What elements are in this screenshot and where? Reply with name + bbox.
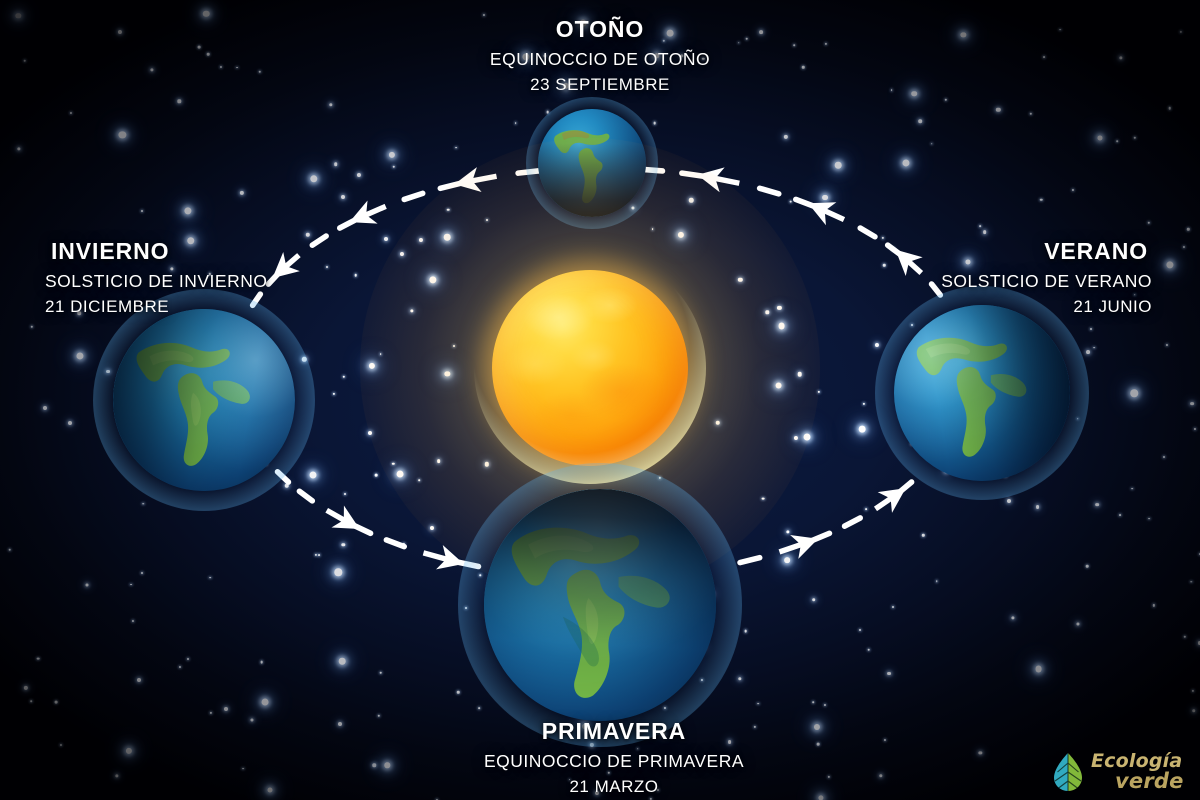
orbit-dash xyxy=(312,236,326,245)
orbit-arrow xyxy=(779,543,806,552)
infographic-canvas: OTOÑO EQUINOCCIO DE OTOÑO 23 SEPTIEMBRE … xyxy=(0,0,1200,800)
logo-line-1: Ecología xyxy=(1091,753,1184,770)
orbit-arrow xyxy=(905,258,921,273)
orbit-dash xyxy=(740,558,760,563)
earth-summer-globe xyxy=(894,305,1070,481)
label-autumn: OTOÑO EQUINOCCIO DE OTOÑO 23 SEPTIEMBRE xyxy=(490,14,710,97)
orbit-dash xyxy=(900,482,912,492)
orbit-dash xyxy=(354,526,370,534)
label-winter-event: SOLSTICIO DE INVIERNO xyxy=(45,270,267,293)
logo-wordmark: Ecología verde xyxy=(1091,753,1184,791)
sun-rim-glow xyxy=(474,252,706,484)
orbit-dash xyxy=(299,491,312,501)
label-winter-season: INVIERNO xyxy=(51,236,267,266)
label-autumn-season: OTOÑO xyxy=(490,14,710,44)
earth-winter-terminator xyxy=(113,309,295,491)
leaf-droplet-icon xyxy=(1052,752,1084,792)
orbit-dash xyxy=(845,518,861,526)
orbit-dash xyxy=(888,245,901,255)
label-spring: PRIMAVERA EQUINOCCIO DE PRIMAVERA 21 MAR… xyxy=(484,716,744,799)
earth-winter xyxy=(113,309,295,491)
orbit-dash xyxy=(404,193,423,199)
label-spring-event: EQUINOCCIO DE PRIMAVERA xyxy=(484,750,744,773)
label-summer: VERANO SOLSTICIO DE VERANO 21 JUNIO xyxy=(941,236,1152,319)
orbit-dash xyxy=(860,228,875,237)
orbit-arrow xyxy=(820,209,844,220)
ecologia-verde-logo[interactable]: Ecología verde xyxy=(1052,752,1184,792)
orbit-arrow xyxy=(423,553,451,561)
orbit-dash xyxy=(268,273,278,284)
orbit-arrow xyxy=(327,510,349,522)
label-summer-event: SOLSTICIO DE VERANO xyxy=(941,270,1152,293)
label-spring-season: PRIMAVERA xyxy=(484,716,744,746)
earth-summer xyxy=(894,305,1070,481)
orbit-arrow xyxy=(361,206,386,217)
orbit-dash xyxy=(796,199,814,206)
orbit-dash xyxy=(386,540,404,547)
label-autumn-event: EQUINOCCIO DE OTOÑO xyxy=(490,48,710,71)
earth-spring-globe xyxy=(484,489,716,721)
label-winter: INVIERNO SOLSTICIO DE INVIERNO 21 DICIEM… xyxy=(45,236,267,319)
earth-spring xyxy=(484,489,716,721)
earth-summer-terminator xyxy=(894,305,1070,481)
earth-spring-terminator xyxy=(484,489,716,721)
orbit-dash xyxy=(760,188,779,194)
logo-line-2: verde xyxy=(1115,772,1184,791)
label-autumn-date: 23 SEPTIEMBRE xyxy=(490,74,710,96)
label-summer-season: VERANO xyxy=(941,236,1148,266)
orbit-arrow xyxy=(282,255,299,270)
label-spring-date: 21 MARZO xyxy=(484,776,744,798)
label-winter-date: 21 DICIEMBRE xyxy=(45,296,267,318)
earth-winter-globe xyxy=(113,309,295,491)
orbit-dash xyxy=(932,284,941,295)
orbit-arrow xyxy=(875,495,895,509)
orbit-dash xyxy=(340,220,356,228)
label-summer-date: 21 JUNIO xyxy=(941,296,1152,318)
orbit-dash xyxy=(812,533,829,540)
